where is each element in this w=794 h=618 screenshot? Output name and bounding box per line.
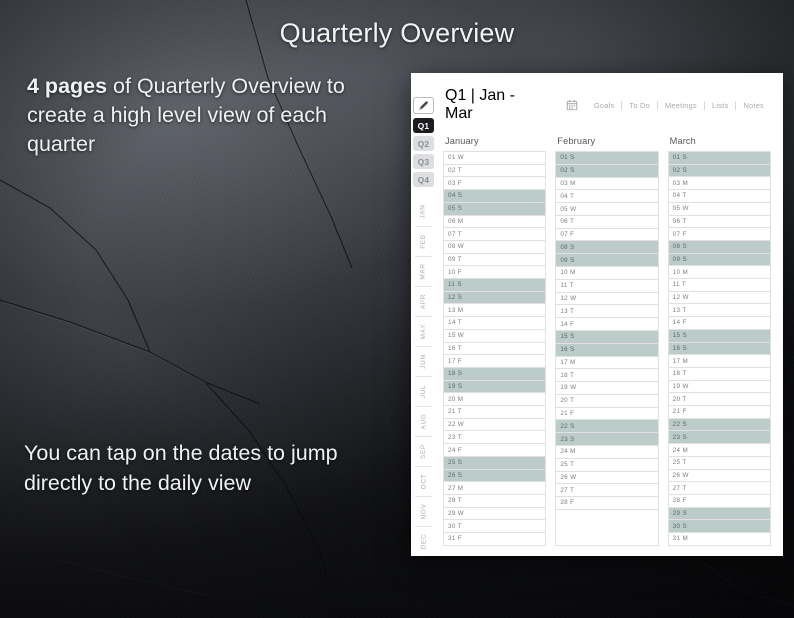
day-row[interactable]: 14 F bbox=[669, 317, 770, 330]
day-row[interactable]: 14 F bbox=[556, 318, 657, 331]
day-row[interactable]: 26 S bbox=[444, 470, 545, 483]
day-row[interactable]: 07 F bbox=[669, 228, 770, 241]
day-row[interactable]: 17 M bbox=[669, 355, 770, 368]
day-row[interactable]: 28 T bbox=[444, 495, 545, 508]
day-row[interactable]: 28 F bbox=[669, 495, 770, 508]
day-row[interactable]: 27 M bbox=[444, 482, 545, 495]
quarter-tab-q1[interactable]: Q1 bbox=[413, 118, 434, 133]
day-row[interactable]: 12 W bbox=[669, 292, 770, 305]
day-row[interactable]: 25 S bbox=[444, 457, 545, 470]
day-row[interactable]: 11 S bbox=[444, 279, 545, 292]
day-row[interactable]: 23 S bbox=[556, 433, 657, 446]
quarter-tab-q3[interactable]: Q3 bbox=[413, 154, 434, 169]
day-row[interactable]: 10 M bbox=[556, 267, 657, 280]
day-row[interactable]: 01 S bbox=[669, 152, 770, 165]
day-row[interactable]: 05 W bbox=[556, 203, 657, 216]
month-tab-label: MAR bbox=[420, 263, 427, 279]
month-column-title: January bbox=[443, 136, 546, 146]
day-row[interactable]: 26 W bbox=[669, 470, 770, 483]
tab-lists[interactable]: Lists bbox=[705, 101, 735, 110]
month-tab-may[interactable]: MAY bbox=[415, 316, 432, 346]
day-row[interactable]: 21 F bbox=[556, 408, 657, 421]
day-row[interactable]: 19 W bbox=[556, 382, 657, 395]
month-tab-label: MAY bbox=[420, 324, 427, 339]
day-list: 01 S02 S03 M04 T05 W06 T07 F08 S09 S10 M… bbox=[668, 151, 771, 546]
day-row[interactable]: 23 S bbox=[669, 431, 770, 444]
month-tab-label: DEC bbox=[420, 534, 427, 550]
day-row[interactable]: 04 S bbox=[444, 190, 545, 203]
day-row[interactable]: 03 M bbox=[669, 177, 770, 190]
day-row[interactable]: 13 T bbox=[556, 305, 657, 318]
day-row[interactable]: 02 S bbox=[669, 165, 770, 178]
quarter-tab-q4[interactable]: Q4 bbox=[413, 172, 434, 187]
day-row[interactable]: 03 F bbox=[444, 177, 545, 190]
day-row[interactable]: 16 S bbox=[669, 343, 770, 356]
day-row[interactable]: 04 T bbox=[556, 190, 657, 203]
day-row[interactable]: 08 S bbox=[669, 241, 770, 254]
day-row[interactable]: 01 W bbox=[444, 152, 545, 165]
day-row[interactable]: 11 T bbox=[556, 280, 657, 293]
day-row[interactable]: 24 M bbox=[669, 444, 770, 457]
day-row[interactable]: 25 T bbox=[669, 457, 770, 470]
month-tab-jun[interactable]: JUN bbox=[415, 346, 432, 376]
day-row[interactable]: 10 M bbox=[669, 266, 770, 279]
promo-text-bottom: You can tap on the dates to jump directl… bbox=[24, 438, 374, 498]
tab-meetings[interactable]: Meetings bbox=[658, 101, 704, 110]
quarter-title: Q1 | Jan - Mar bbox=[445, 87, 538, 123]
tab-notes[interactable]: Notes bbox=[736, 101, 771, 110]
day-row[interactable]: 15 W bbox=[444, 330, 545, 343]
month-tab-jul[interactable]: JUL bbox=[415, 376, 432, 406]
month-tab-label: JUL bbox=[420, 385, 427, 398]
day-row[interactable]: 09 T bbox=[444, 254, 545, 267]
section-tab-list: GoalsTo DoMeetingsListsNotes bbox=[566, 99, 771, 111]
day-list: 01 S02 S03 M04 T05 W06 T07 F08 S09 S10 M… bbox=[555, 151, 658, 546]
planner-header: Q1 | Jan - Mar GoalsTo DoMeeti bbox=[443, 87, 771, 123]
month-tab-sep[interactable]: SEP bbox=[415, 436, 432, 466]
pencil-icon bbox=[417, 99, 430, 112]
promo-text-top: 4 pages of Quarterly Overview to create … bbox=[27, 72, 357, 159]
day-row[interactable]: 20 T bbox=[669, 393, 770, 406]
month-column-march: March01 S02 S03 M04 T05 W06 T07 F08 S09 … bbox=[668, 136, 771, 546]
day-row-empty bbox=[556, 510, 657, 522]
day-row[interactable]: 12 S bbox=[444, 292, 545, 305]
day-row[interactable]: 31 M bbox=[669, 533, 770, 546]
month-tab-mar[interactable]: MAR bbox=[415, 256, 432, 286]
pencil-tab[interactable] bbox=[413, 97, 434, 114]
day-row[interactable]: 25 T bbox=[556, 459, 657, 472]
day-row[interactable]: 15 S bbox=[556, 331, 657, 344]
day-row[interactable]: 17 F bbox=[444, 355, 545, 368]
planner-card: Q1Q2Q3Q4 JANFEBMARAPRMAYJUNJULAUGSEPOCTN… bbox=[411, 73, 783, 556]
month-tab-aug[interactable]: AUG bbox=[415, 406, 432, 436]
day-row[interactable]: 19 S bbox=[444, 381, 545, 394]
day-row[interactable]: 17 M bbox=[556, 357, 657, 370]
planner-page: Q1 | Jan - Mar GoalsTo DoMeeti bbox=[436, 73, 783, 556]
month-rail: JANFEBMARAPRMAYJUNJULAUGSEPOCTNOVDEC bbox=[415, 197, 432, 556]
month-tab-label: OCT bbox=[420, 474, 427, 490]
day-row[interactable]: 29 S bbox=[669, 508, 770, 521]
day-row[interactable]: 24 F bbox=[444, 444, 545, 457]
month-tab-feb[interactable]: FEB bbox=[415, 226, 432, 256]
calendar-icon[interactable] bbox=[566, 99, 578, 111]
day-row[interactable]: 08 S bbox=[556, 241, 657, 254]
month-tab-label: NOV bbox=[420, 504, 427, 520]
day-row[interactable]: 06 T bbox=[556, 216, 657, 229]
month-column-january: January01 W02 T03 F04 S05 S06 M07 T08 W0… bbox=[443, 136, 546, 546]
day-row[interactable]: 16 S bbox=[556, 344, 657, 357]
quarter-tab-q2[interactable]: Q2 bbox=[413, 136, 434, 151]
day-row[interactable]: 06 T bbox=[669, 216, 770, 229]
month-tab-label: FEB bbox=[420, 234, 427, 249]
day-row[interactable]: 04 T bbox=[669, 190, 770, 203]
quarter-tab-list: Q1Q2Q3Q4 bbox=[413, 118, 434, 190]
day-row[interactable]: 27 T bbox=[669, 482, 770, 495]
month-tab-label: SEP bbox=[420, 444, 427, 459]
day-row[interactable]: 15 S bbox=[669, 330, 770, 343]
promo-text-top-strong: 4 pages bbox=[27, 74, 107, 98]
day-row[interactable]: 10 F bbox=[444, 266, 545, 279]
month-column-title: March bbox=[668, 136, 771, 146]
day-row[interactable]: 07 T bbox=[444, 228, 545, 241]
day-row[interactable]: 30 S bbox=[669, 520, 770, 533]
day-row[interactable]: 22 S bbox=[556, 420, 657, 433]
day-row[interactable]: 18 S bbox=[444, 368, 545, 381]
tab-goals[interactable]: Goals bbox=[587, 101, 622, 110]
day-row[interactable]: 18 T bbox=[669, 368, 770, 381]
day-row[interactable]: 06 M bbox=[444, 216, 545, 229]
day-row[interactable]: 13 M bbox=[444, 304, 545, 317]
day-row[interactable]: 05 W bbox=[669, 203, 770, 216]
day-row[interactable]: 09 S bbox=[669, 254, 770, 267]
day-row[interactable]: 02 S bbox=[556, 165, 657, 178]
day-row[interactable]: 18 T bbox=[556, 369, 657, 382]
day-row[interactable]: 14 T bbox=[444, 317, 545, 330]
day-row[interactable]: 11 T bbox=[669, 279, 770, 292]
day-row[interactable]: 13 T bbox=[669, 304, 770, 317]
day-row[interactable]: 01 S bbox=[556, 152, 657, 165]
month-tab-dec[interactable]: DEC bbox=[415, 526, 432, 556]
month-column-title: February bbox=[555, 136, 658, 146]
day-row[interactable]: 12 W bbox=[556, 293, 657, 306]
month-tab-jan[interactable]: JAN bbox=[415, 197, 432, 226]
day-row[interactable]: 07 F bbox=[556, 229, 657, 242]
day-row[interactable]: 22 W bbox=[444, 419, 545, 432]
day-row[interactable]: 30 T bbox=[444, 520, 545, 533]
month-tab-oct[interactable]: OCT bbox=[415, 466, 432, 496]
day-row-empty bbox=[556, 533, 657, 545]
day-row[interactable]: 24 M bbox=[556, 446, 657, 459]
sidebar-rail: Q1Q2Q3Q4 JANFEBMARAPRMAYJUNJULAUGSEPOCTN… bbox=[411, 73, 436, 556]
day-row[interactable]: 20 M bbox=[444, 393, 545, 406]
day-row-empty bbox=[556, 522, 657, 534]
day-row[interactable]: 19 W bbox=[669, 381, 770, 394]
day-row[interactable]: 21 F bbox=[669, 406, 770, 419]
month-tab-label: JAN bbox=[420, 204, 427, 218]
month-tab-apr[interactable]: APR bbox=[415, 286, 432, 316]
day-row[interactable]: 28 F bbox=[556, 497, 657, 510]
day-row[interactable]: 02 T bbox=[444, 165, 545, 178]
month-column-february: February01 S02 S03 M04 T05 W06 T07 F08 S… bbox=[555, 136, 658, 546]
day-list: 01 W02 T03 F04 S05 S06 M07 T08 W09 T10 F… bbox=[443, 151, 546, 546]
day-row[interactable]: 20 T bbox=[556, 395, 657, 408]
day-row[interactable]: 26 W bbox=[556, 472, 657, 485]
day-row[interactable]: 29 W bbox=[444, 508, 545, 521]
day-row[interactable]: 03 M bbox=[556, 178, 657, 191]
day-row[interactable]: 31 F bbox=[444, 533, 545, 546]
day-row[interactable]: 08 W bbox=[444, 241, 545, 254]
month-tab-nov[interactable]: NOV bbox=[415, 496, 432, 526]
day-row[interactable]: 09 S bbox=[556, 254, 657, 267]
page-title: Quarterly Overview bbox=[0, 18, 794, 49]
month-columns: January01 W02 T03 F04 S05 S06 M07 T08 W0… bbox=[443, 136, 771, 546]
month-tab-label: APR bbox=[420, 294, 427, 309]
day-row[interactable]: 16 T bbox=[444, 343, 545, 356]
tab-to-do[interactable]: To Do bbox=[622, 101, 657, 110]
day-row[interactable]: 05 S bbox=[444, 203, 545, 216]
day-row[interactable]: 21 T bbox=[444, 406, 545, 419]
day-row[interactable]: 23 T bbox=[444, 431, 545, 444]
month-tab-label: JUN bbox=[420, 354, 427, 369]
day-row[interactable]: 27 T bbox=[556, 484, 657, 497]
month-tab-label: AUG bbox=[420, 414, 427, 430]
day-row[interactable]: 22 S bbox=[669, 419, 770, 432]
